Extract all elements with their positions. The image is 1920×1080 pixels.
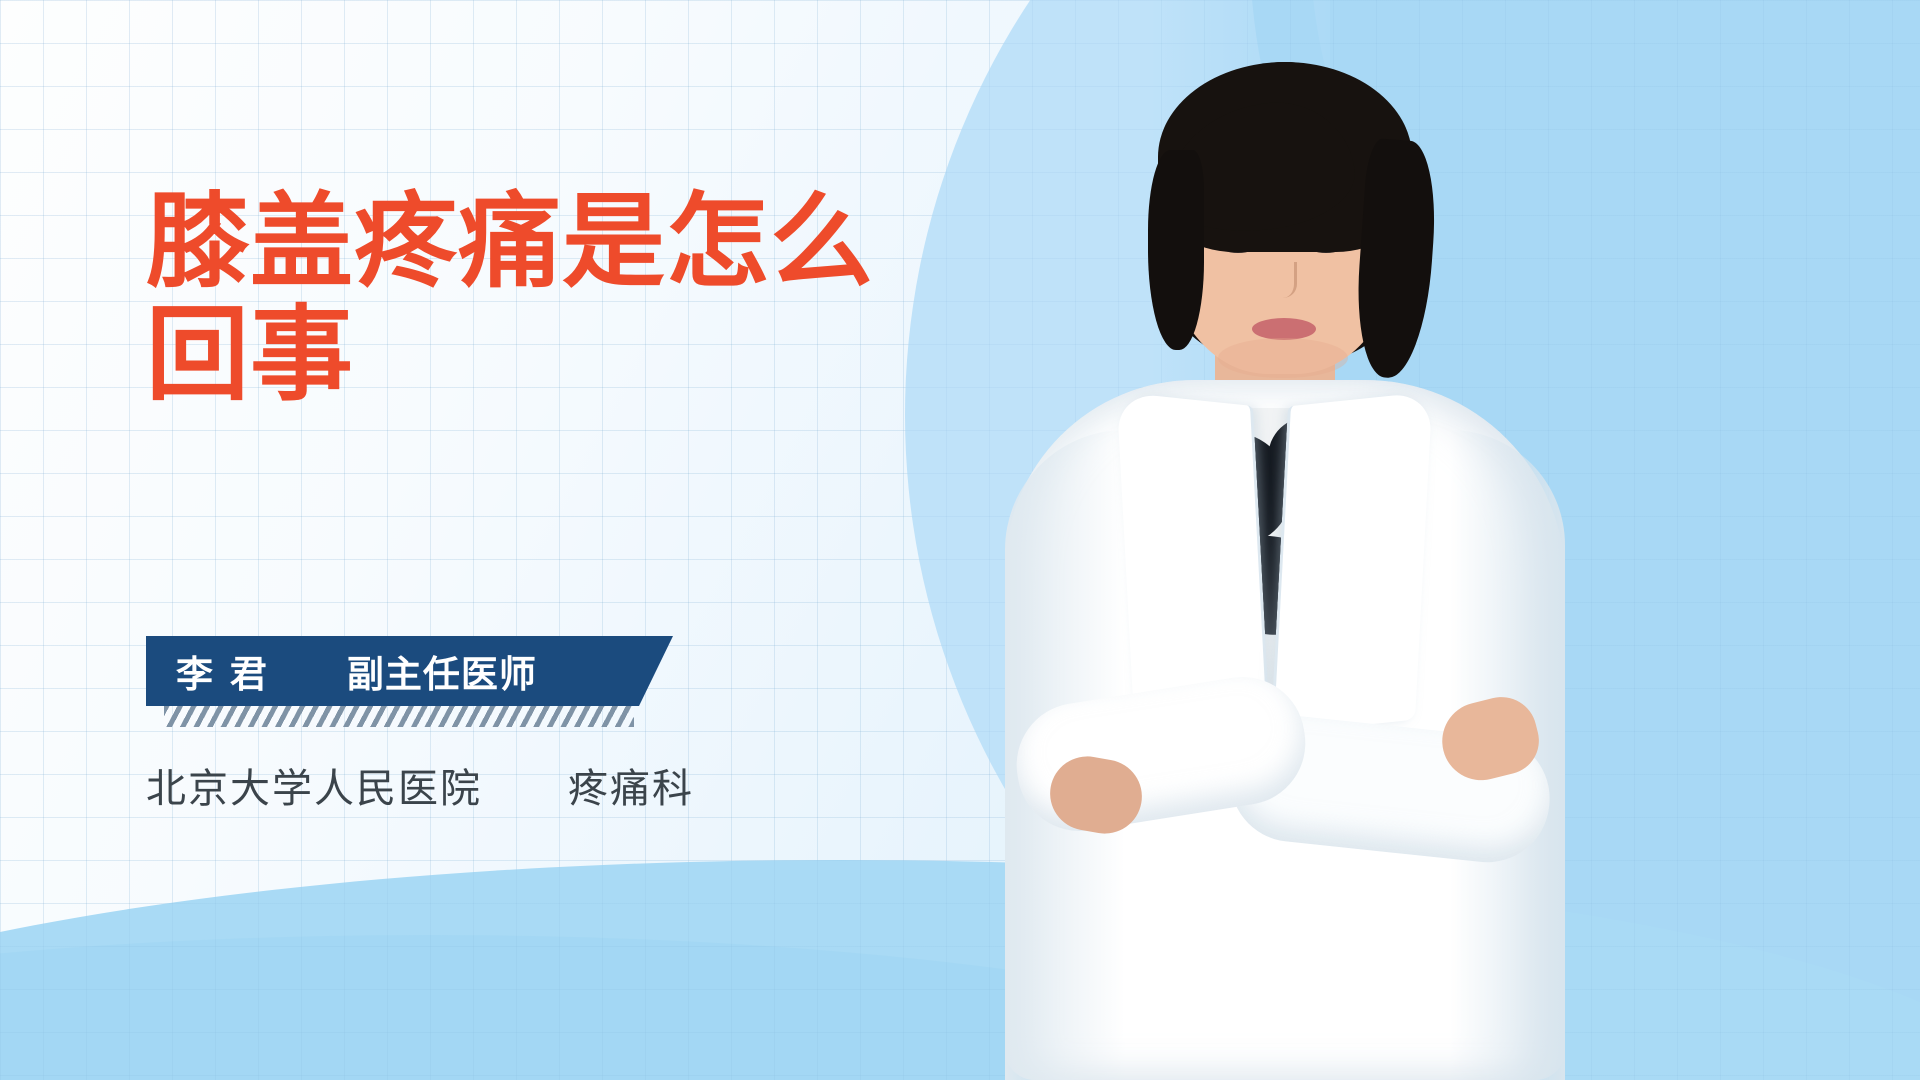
hair-side-left bbox=[1148, 150, 1204, 350]
video-title: 膝盖疼痛是怎么 回事 bbox=[146, 186, 966, 412]
title-line-2: 回事 bbox=[146, 299, 966, 412]
hospital-name: 北京大学人民医院 bbox=[146, 756, 482, 814]
department-name: 疼痛科 bbox=[568, 756, 694, 814]
credential-banner: 李 君 副主任医师 bbox=[146, 636, 639, 706]
doctor-portrait bbox=[930, 0, 1630, 1080]
doctor-name: 李 君 bbox=[176, 644, 269, 698]
doctor-professional-title: 副主任医师 bbox=[347, 644, 537, 698]
nose bbox=[1270, 262, 1297, 298]
coat-lapel-right bbox=[1270, 391, 1432, 734]
affiliation-line: 北京大学人民医院 疼痛科 bbox=[146, 756, 694, 814]
chin-shadow bbox=[1218, 338, 1348, 378]
title-card: 膝盖疼痛是怎么 回事 李 君 副主任医师 北京大学人民医院 疼痛科 bbox=[0, 0, 1920, 1080]
mouth bbox=[1252, 318, 1316, 340]
credential-block: 李 君 副主任医师 bbox=[146, 636, 786, 727]
hatch-stripe-decoration bbox=[164, 706, 634, 727]
title-line-1: 膝盖疼痛是怎么 bbox=[146, 186, 966, 299]
